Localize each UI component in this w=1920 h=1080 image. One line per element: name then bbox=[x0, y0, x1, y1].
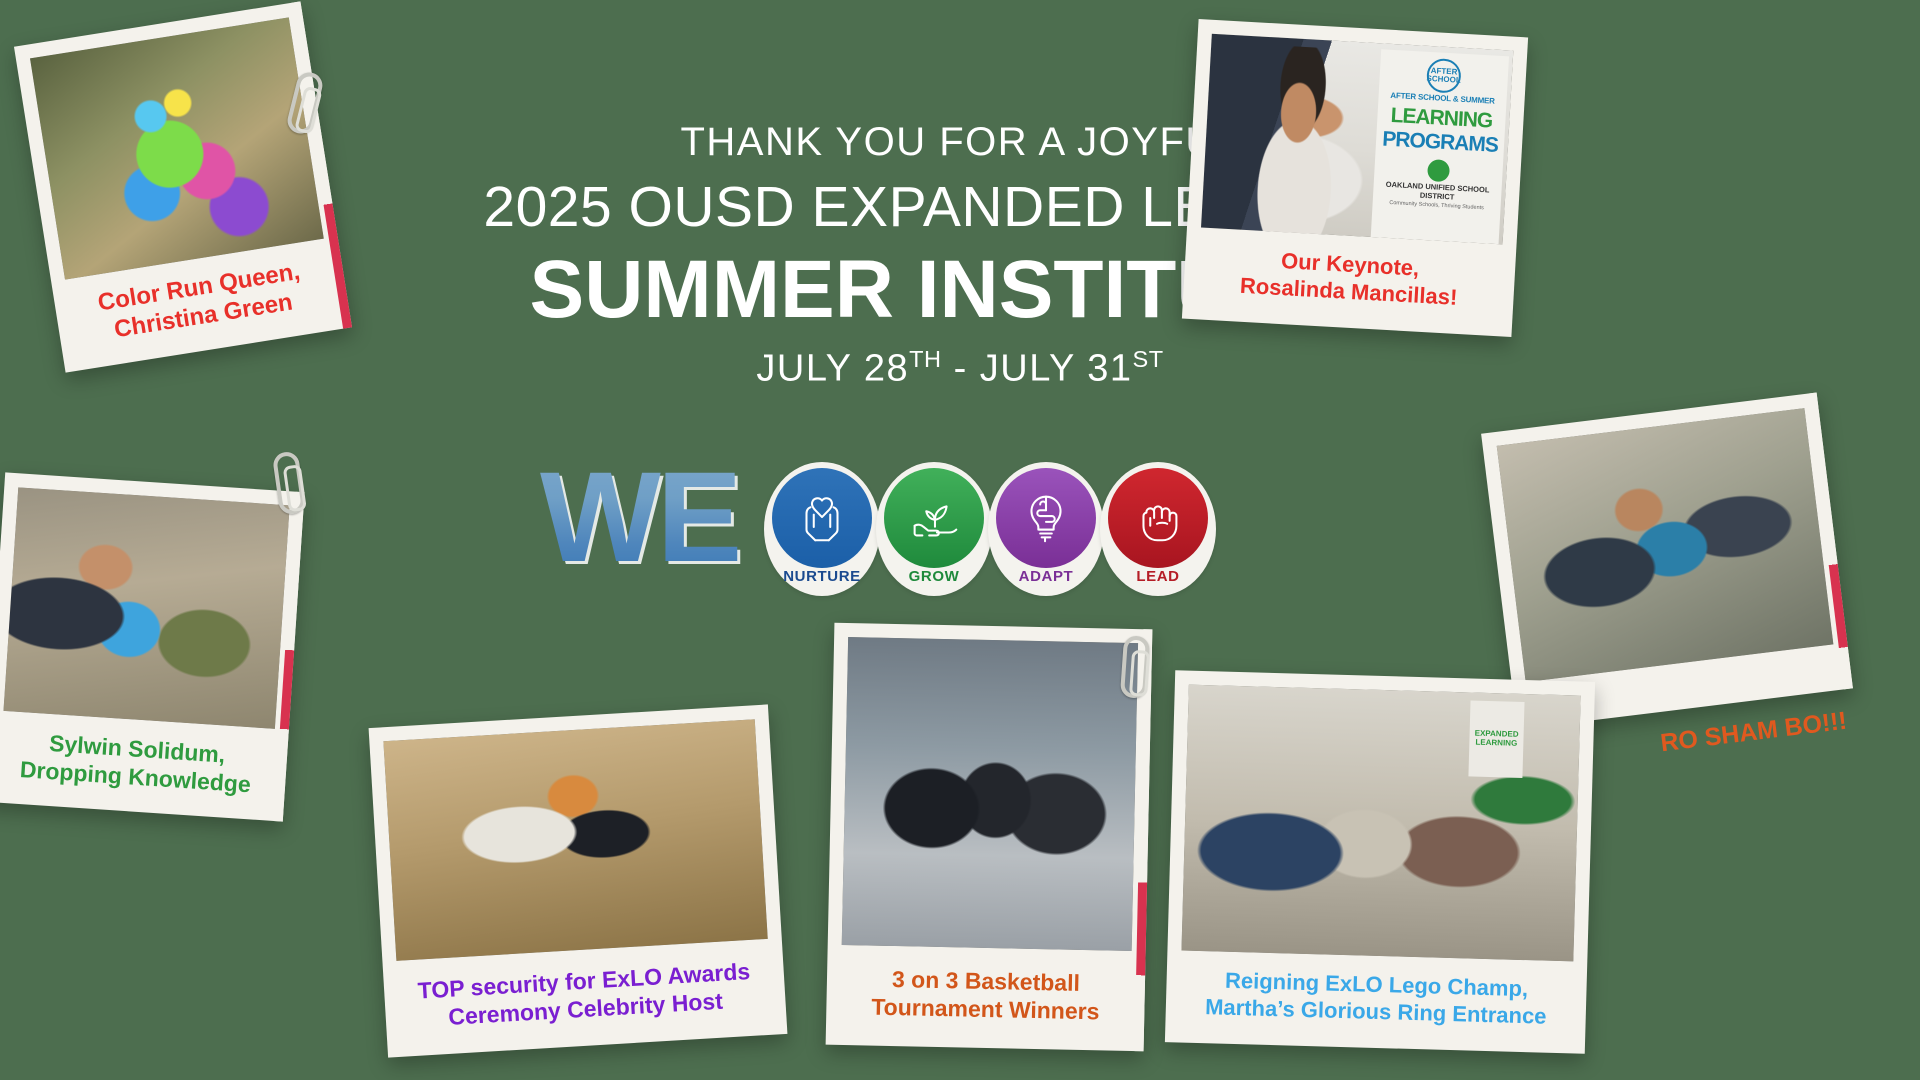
value-pill-nurture[interactable]: NURTURE bbox=[764, 462, 880, 596]
polaroid-sylwin[interactable]: Sylwin Solidum, Dropping Knowledge bbox=[0, 472, 305, 821]
lightbulb-puzzle-icon bbox=[1015, 487, 1077, 549]
hand-holding-plant-icon bbox=[903, 487, 965, 549]
polaroid-lego-champ[interactable]: EXPANDEDLEARNING Reigning ExLO Lego Cham… bbox=[1165, 670, 1595, 1054]
grow-disc bbox=[884, 468, 984, 568]
date-start: JULY 28 bbox=[756, 348, 909, 390]
photo-exlo-awards-host bbox=[383, 719, 767, 961]
value-label-lead: LEAD bbox=[1100, 568, 1216, 585]
value-pill-adapt[interactable]: ADAPT bbox=[988, 462, 1104, 596]
lead-disc bbox=[1108, 468, 1208, 568]
value-label-nurture: NURTURE bbox=[764, 568, 880, 585]
ousd-logo-icon bbox=[1427, 159, 1450, 182]
value-label-grow: GROW bbox=[876, 568, 992, 585]
date-separator: - JULY 31 bbox=[942, 348, 1133, 390]
date-end-ordinal: ST bbox=[1133, 346, 1164, 372]
value-pill-lead[interactable]: LEAD bbox=[1100, 462, 1216, 596]
value-label-adapt: ADAPT bbox=[988, 568, 1104, 585]
nurture-disc bbox=[772, 468, 872, 568]
we-values-logo: WE NURTURE bbox=[540, 462, 1080, 592]
photo-sylwin bbox=[3, 487, 289, 729]
adapt-disc bbox=[996, 468, 1096, 568]
caption-ro-sham-bo: RO SHAM BO!!! bbox=[1659, 707, 1849, 759]
caption-sylwin: Sylwin Solidum, Dropping Knowledge bbox=[0, 710, 289, 822]
polaroid-color-run-queen[interactable]: Color Run Queen, Christina Green bbox=[14, 1, 352, 372]
poster-canvas: THANK YOU FOR A JOYFUL 2025 OUSD EXPANDE… bbox=[0, 0, 1920, 1080]
value-pill-grow[interactable]: GROW bbox=[876, 462, 992, 596]
photo-keynote: AFTERSCHOOL AFTER SCHOOL & SUMMER LEARNI… bbox=[1201, 34, 1513, 245]
polaroid-exlo-awards-host[interactable]: TOP security for ExLO Awards Ceremony Ce… bbox=[369, 704, 788, 1057]
photo-ro-sham-bo bbox=[1497, 408, 1834, 682]
photo-subject-keynote-speaker bbox=[1217, 43, 1378, 245]
photo-color-run bbox=[30, 17, 324, 279]
polaroid-keynote[interactable]: AFTERSCHOOL AFTER SCHOOL & SUMMER LEARNI… bbox=[1182, 19, 1528, 337]
polaroid-basketball-winners[interactable]: 3 on 3 Basketball Tournament Winners bbox=[826, 623, 1153, 1052]
polaroid-ro-sham-bo[interactable] bbox=[1481, 393, 1853, 730]
photo-lego-champ: EXPANDEDLEARNING bbox=[1181, 685, 1580, 962]
date-start-ordinal: TH bbox=[909, 346, 941, 372]
caption-line-1: 3 on 3 Basketball bbox=[892, 965, 1080, 997]
caption-line-2: Rosalinda Mancillas! bbox=[1239, 273, 1458, 312]
we-wordmark: WE bbox=[540, 454, 738, 582]
hands-holding-heart-icon bbox=[791, 487, 853, 549]
paperclip-icon bbox=[1120, 635, 1150, 699]
caption-lego-champ: Reigning ExLO Lego Champ, Martha’s Glori… bbox=[1165, 950, 1587, 1054]
photo-basketball-winners bbox=[842, 637, 1138, 951]
hero-line-dates: JULY 28TH - JULY 31ST bbox=[420, 347, 1500, 390]
caption-basketball-winners: 3 on 3 Basketball Tournament Winners bbox=[826, 945, 1146, 1052]
caption-keynote: Our Keynote, Rosalinda Mancillas! bbox=[1182, 227, 1517, 337]
raised-fist-icon bbox=[1127, 487, 1189, 549]
caption-line-2: Tournament Winners bbox=[871, 993, 1100, 1026]
expanded-learning-sign: EXPANDEDLEARNING bbox=[1468, 700, 1524, 777]
after-school-seal-icon: AFTERSCHOOL bbox=[1426, 58, 1462, 94]
after-school-banner: AFTERSCHOOL AFTER SCHOOL & SUMMER LEARNI… bbox=[1371, 49, 1509, 244]
